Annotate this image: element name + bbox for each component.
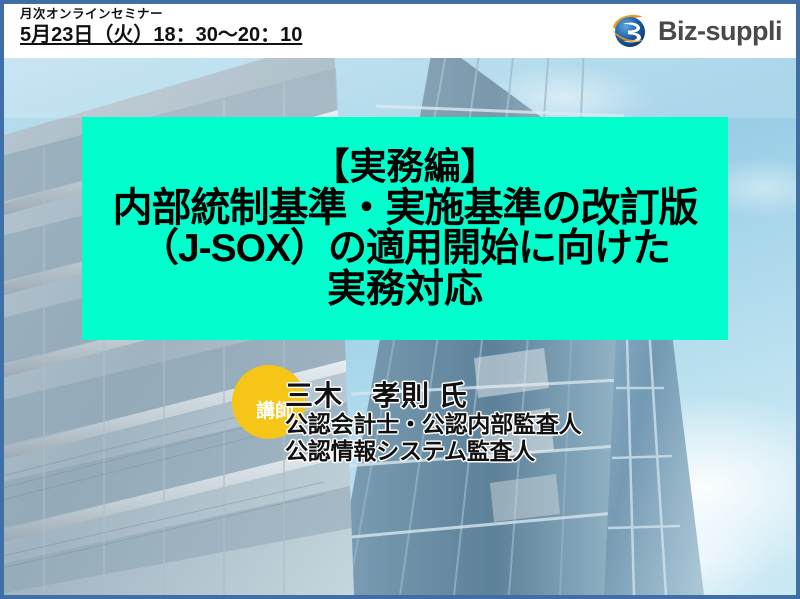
seminar-slide: 【実務編】 内部統制基準・実施基準の改訂版 （J-SOX）の適用開始に向けた 実… xyxy=(0,0,800,599)
slide-header: 月次オンラインセミナー 5月23日（火）18：30～20：10 xyxy=(4,4,796,58)
title-line-2: 内部統制基準・実施基準の改訂版 xyxy=(113,188,698,230)
speaker-credential-2: 公認情報システム監査人 xyxy=(285,438,581,465)
title-line-1: 【実務編】 xyxy=(313,148,498,186)
brand-logo-text: Biz-suppli xyxy=(658,18,782,45)
speaker-info: 三木 孝則 氏 公認会計士・公認内部監査人 公認情報システム監査人 xyxy=(285,380,581,465)
title-line-3: （J-SOX）の適用開始に向けた xyxy=(140,229,670,270)
brand-logo: Biz-suppli xyxy=(610,10,782,52)
header-text-block: 月次オンラインセミナー 5月23日（火）18：30～20：10 xyxy=(20,7,302,48)
seminar-date-time: 5月23日（火）18：30～20：10 xyxy=(20,22,302,48)
speaker-credential-1: 公認会計士・公認内部監査人 xyxy=(285,411,581,438)
title-panel: 【実務編】 内部統制基準・実施基準の改訂版 （J-SOX）の適用開始に向けた 実… xyxy=(82,117,728,340)
title-line-4: 実務対応 xyxy=(327,270,483,311)
speaker-name: 三木 孝則 氏 xyxy=(285,380,581,411)
biz-suppli-swoosh-icon xyxy=(610,11,650,51)
seminar-series-label: 月次オンラインセミナー xyxy=(20,7,302,22)
